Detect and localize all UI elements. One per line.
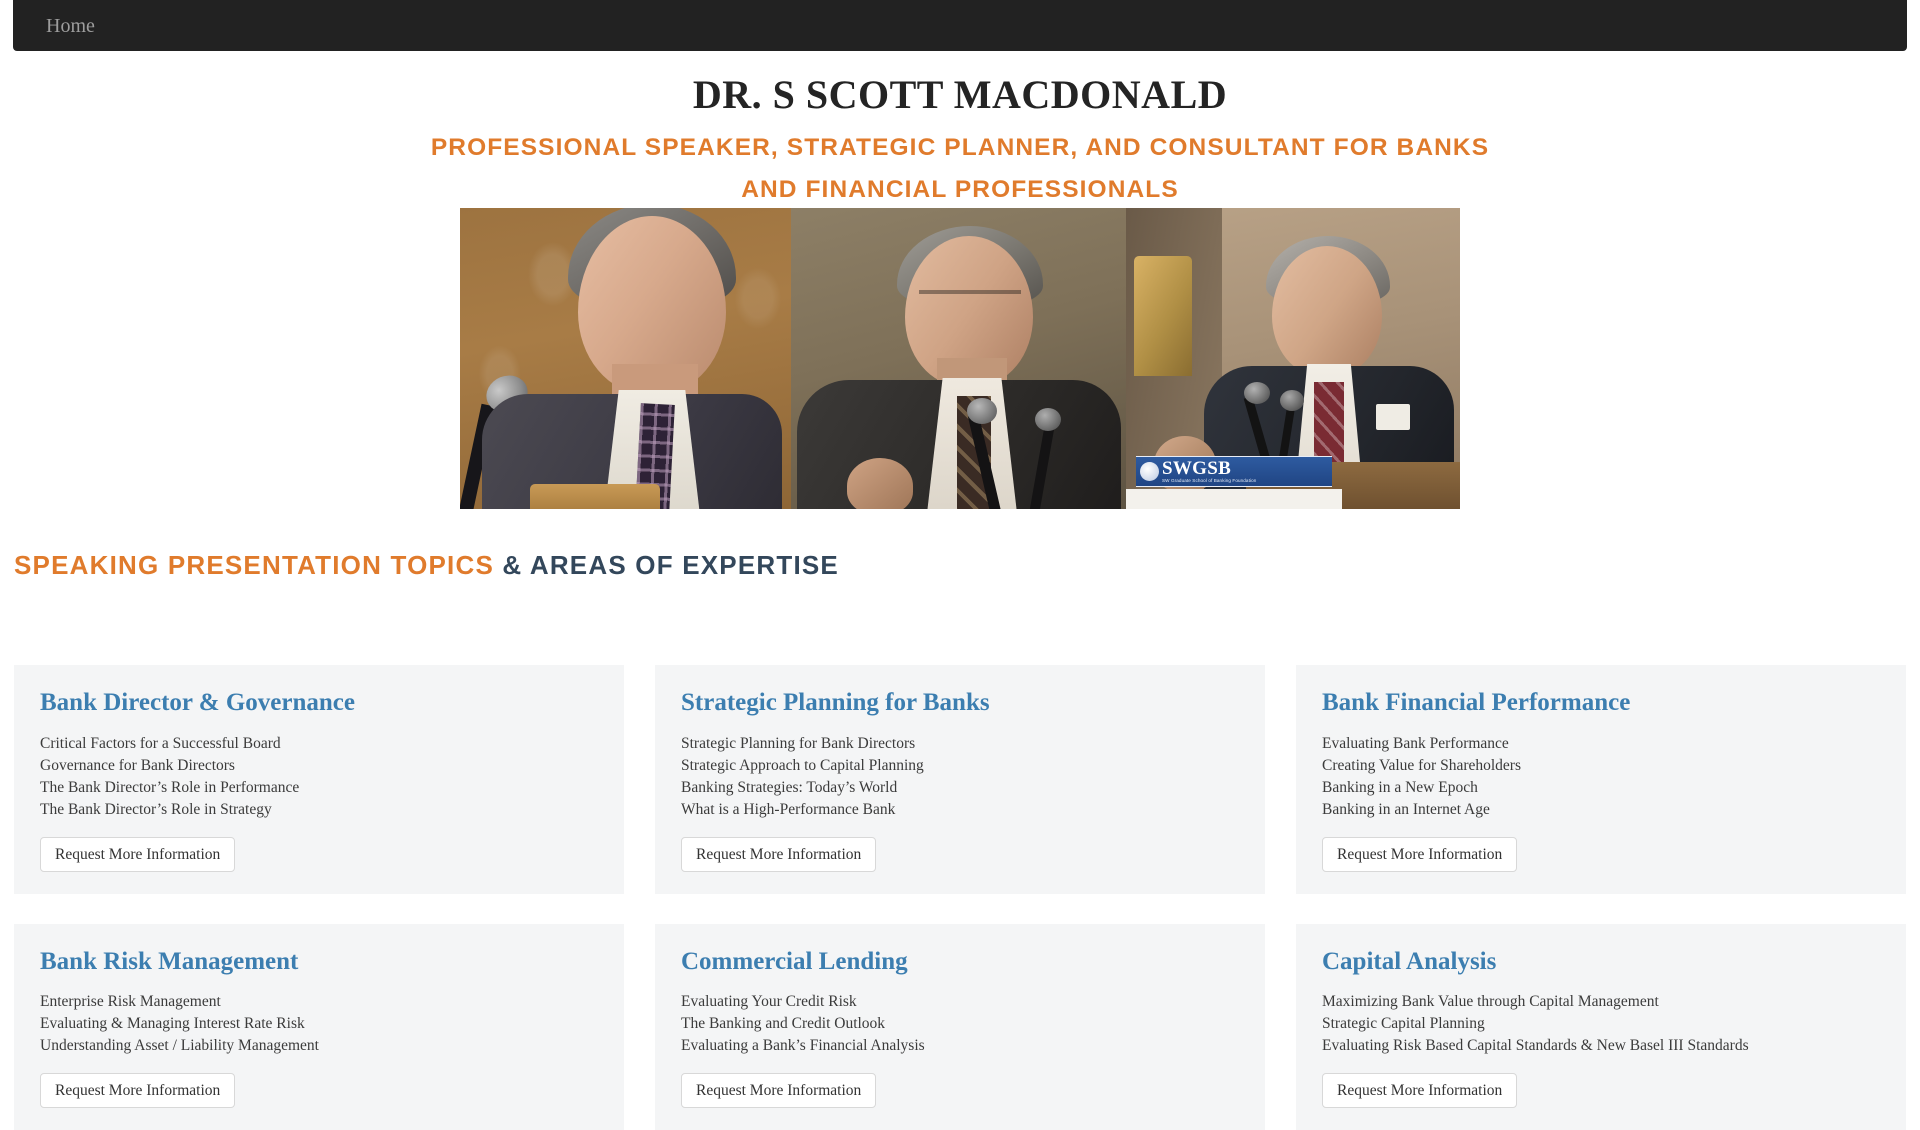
microphone-icon-2 xyxy=(1035,408,1061,431)
swgsb-acronym: SWGSB xyxy=(1162,459,1256,478)
main-navbar: Home xyxy=(13,0,1907,51)
page-subtitle: PROFESSIONAL SPEAKER, STRATEGIC PLANNER,… xyxy=(430,127,1490,211)
topic-list-item: The Bank Director’s Role in Performance xyxy=(40,777,598,799)
request-more-information-button[interactable]: Request More Information xyxy=(681,837,876,872)
topic-list-item: Evaluating a Bank’s Financial Analysis xyxy=(681,1035,1239,1057)
topic-list: Strategic Planning for Bank DirectorsStr… xyxy=(681,733,1239,821)
speaker-photo-2 xyxy=(791,208,1126,509)
speaker-photo-1 xyxy=(460,208,791,509)
glasses-icon xyxy=(919,290,1021,294)
topic-list-item: Enterprise Risk Management xyxy=(40,991,598,1013)
request-more-information-button[interactable]: Request More Information xyxy=(1322,1073,1517,1108)
topic-list: Enterprise Risk ManagementEvaluating & M… xyxy=(40,991,598,1057)
topic-list-item: Maximizing Bank Value through Capital Ma… xyxy=(1322,991,1880,1013)
section-heading-rest: & AREAS OF EXPERTISE xyxy=(494,550,839,580)
photo3-face xyxy=(1272,246,1382,376)
topic-list-item: Evaluating Bank Performance xyxy=(1322,733,1880,755)
topic-list-item: Governance for Bank Directors xyxy=(40,755,598,777)
topic-card-title: Bank Financial Performance xyxy=(1322,689,1880,717)
topic-list: Maximizing Bank Value through Capital Ma… xyxy=(1322,991,1880,1057)
swgsb-seal-icon xyxy=(1140,462,1159,481)
swgsb-banner: SWGSB SW Graduate School of Banking Foun… xyxy=(1136,456,1332,487)
topic-list: Critical Factors for a Successful BoardG… xyxy=(40,733,598,821)
photo3-gold-pipes xyxy=(1134,256,1192,376)
topic-list: Evaluating Your Credit RiskThe Banking a… xyxy=(681,991,1239,1057)
topic-list-item: Evaluating & Managing Interest Rate Risk xyxy=(40,1013,598,1035)
topic-list-item: Evaluating Risk Based Capital Standards … xyxy=(1322,1035,1880,1057)
topic-card-title: Bank Director & Governance xyxy=(40,689,598,717)
topic-list-item: Strategic Capital Planning xyxy=(1322,1013,1880,1035)
topic-card-title: Strategic Planning for Banks xyxy=(681,689,1239,717)
hero-photo-strip: SWGSB SW Graduate School of Banking Foun… xyxy=(460,208,1460,509)
topic-card: Capital AnalysisMaximizing Bank Value th… xyxy=(1296,924,1906,1130)
topic-list-item: The Banking and Credit Outlook xyxy=(681,1013,1239,1035)
topic-card: Bank Risk ManagementEnterprise Risk Mana… xyxy=(14,924,624,1130)
topic-list: Evaluating Bank PerformanceCreating Valu… xyxy=(1322,733,1880,821)
topic-list-item: Understanding Asset / Liability Manageme… xyxy=(40,1035,598,1057)
topic-list-item: Creating Value for Shareholders xyxy=(1322,755,1880,777)
hero-header: DR. S SCOTT MACDONALD PROFESSIONAL SPEAK… xyxy=(0,51,1920,211)
topic-list-item: Banking in a New Epoch xyxy=(1322,777,1880,799)
nav-item-home[interactable]: Home xyxy=(31,16,110,36)
topic-card: Bank Director & GovernanceCritical Facto… xyxy=(14,665,624,894)
photo2-audience-head xyxy=(847,458,913,509)
topic-cards-grid: Bank Director & GovernanceCritical Facto… xyxy=(14,665,1906,1130)
microphone-icon-2 xyxy=(1280,390,1304,411)
swgsb-subtitle: SW Graduate School of Banking Foundation xyxy=(1162,479,1256,484)
topic-card-title: Capital Analysis xyxy=(1322,948,1880,976)
photo1-podium xyxy=(530,484,660,509)
section-heading: SPEAKING PRESENTATION TOPICS & AREAS OF … xyxy=(14,552,839,578)
section-heading-highlight: SPEAKING PRESENTATION TOPICS xyxy=(14,550,494,580)
topic-list-item: Banking Strategies: Today’s World xyxy=(681,777,1239,799)
photo3-name-badge xyxy=(1376,404,1410,430)
topic-list-item: The Bank Director’s Role in Strategy xyxy=(40,799,598,821)
topic-list-item: Strategic Planning for Bank Directors xyxy=(681,733,1239,755)
topic-card: Strategic Planning for BanksStrategic Pl… xyxy=(655,665,1265,894)
request-more-information-button[interactable]: Request More Information xyxy=(40,1073,235,1108)
topic-card-title: Bank Risk Management xyxy=(40,948,598,976)
topic-card-title: Commercial Lending xyxy=(681,948,1239,976)
topic-list-item: Critical Factors for a Successful Board xyxy=(40,733,598,755)
topic-list-item: What is a High-Performance Bank xyxy=(681,799,1239,821)
photo3-podium-front xyxy=(1126,489,1342,509)
microphone-icon xyxy=(967,398,997,424)
topic-list-item: Evaluating Your Credit Risk xyxy=(681,991,1239,1013)
request-more-information-button[interactable]: Request More Information xyxy=(40,837,235,872)
speaker-photo-3: SWGSB SW Graduate School of Banking Foun… xyxy=(1126,208,1460,509)
request-more-information-button[interactable]: Request More Information xyxy=(681,1073,876,1108)
topic-card: Bank Financial PerformanceEvaluating Ban… xyxy=(1296,665,1906,894)
page-title: DR. S SCOTT MACDONALD xyxy=(0,73,1920,117)
microphone-icon xyxy=(1244,382,1270,404)
topic-card: Commercial LendingEvaluating Your Credit… xyxy=(655,924,1265,1130)
topic-list-item: Strategic Approach to Capital Planning xyxy=(681,755,1239,777)
request-more-information-button[interactable]: Request More Information xyxy=(1322,837,1517,872)
topic-list-item: Banking in an Internet Age xyxy=(1322,799,1880,821)
